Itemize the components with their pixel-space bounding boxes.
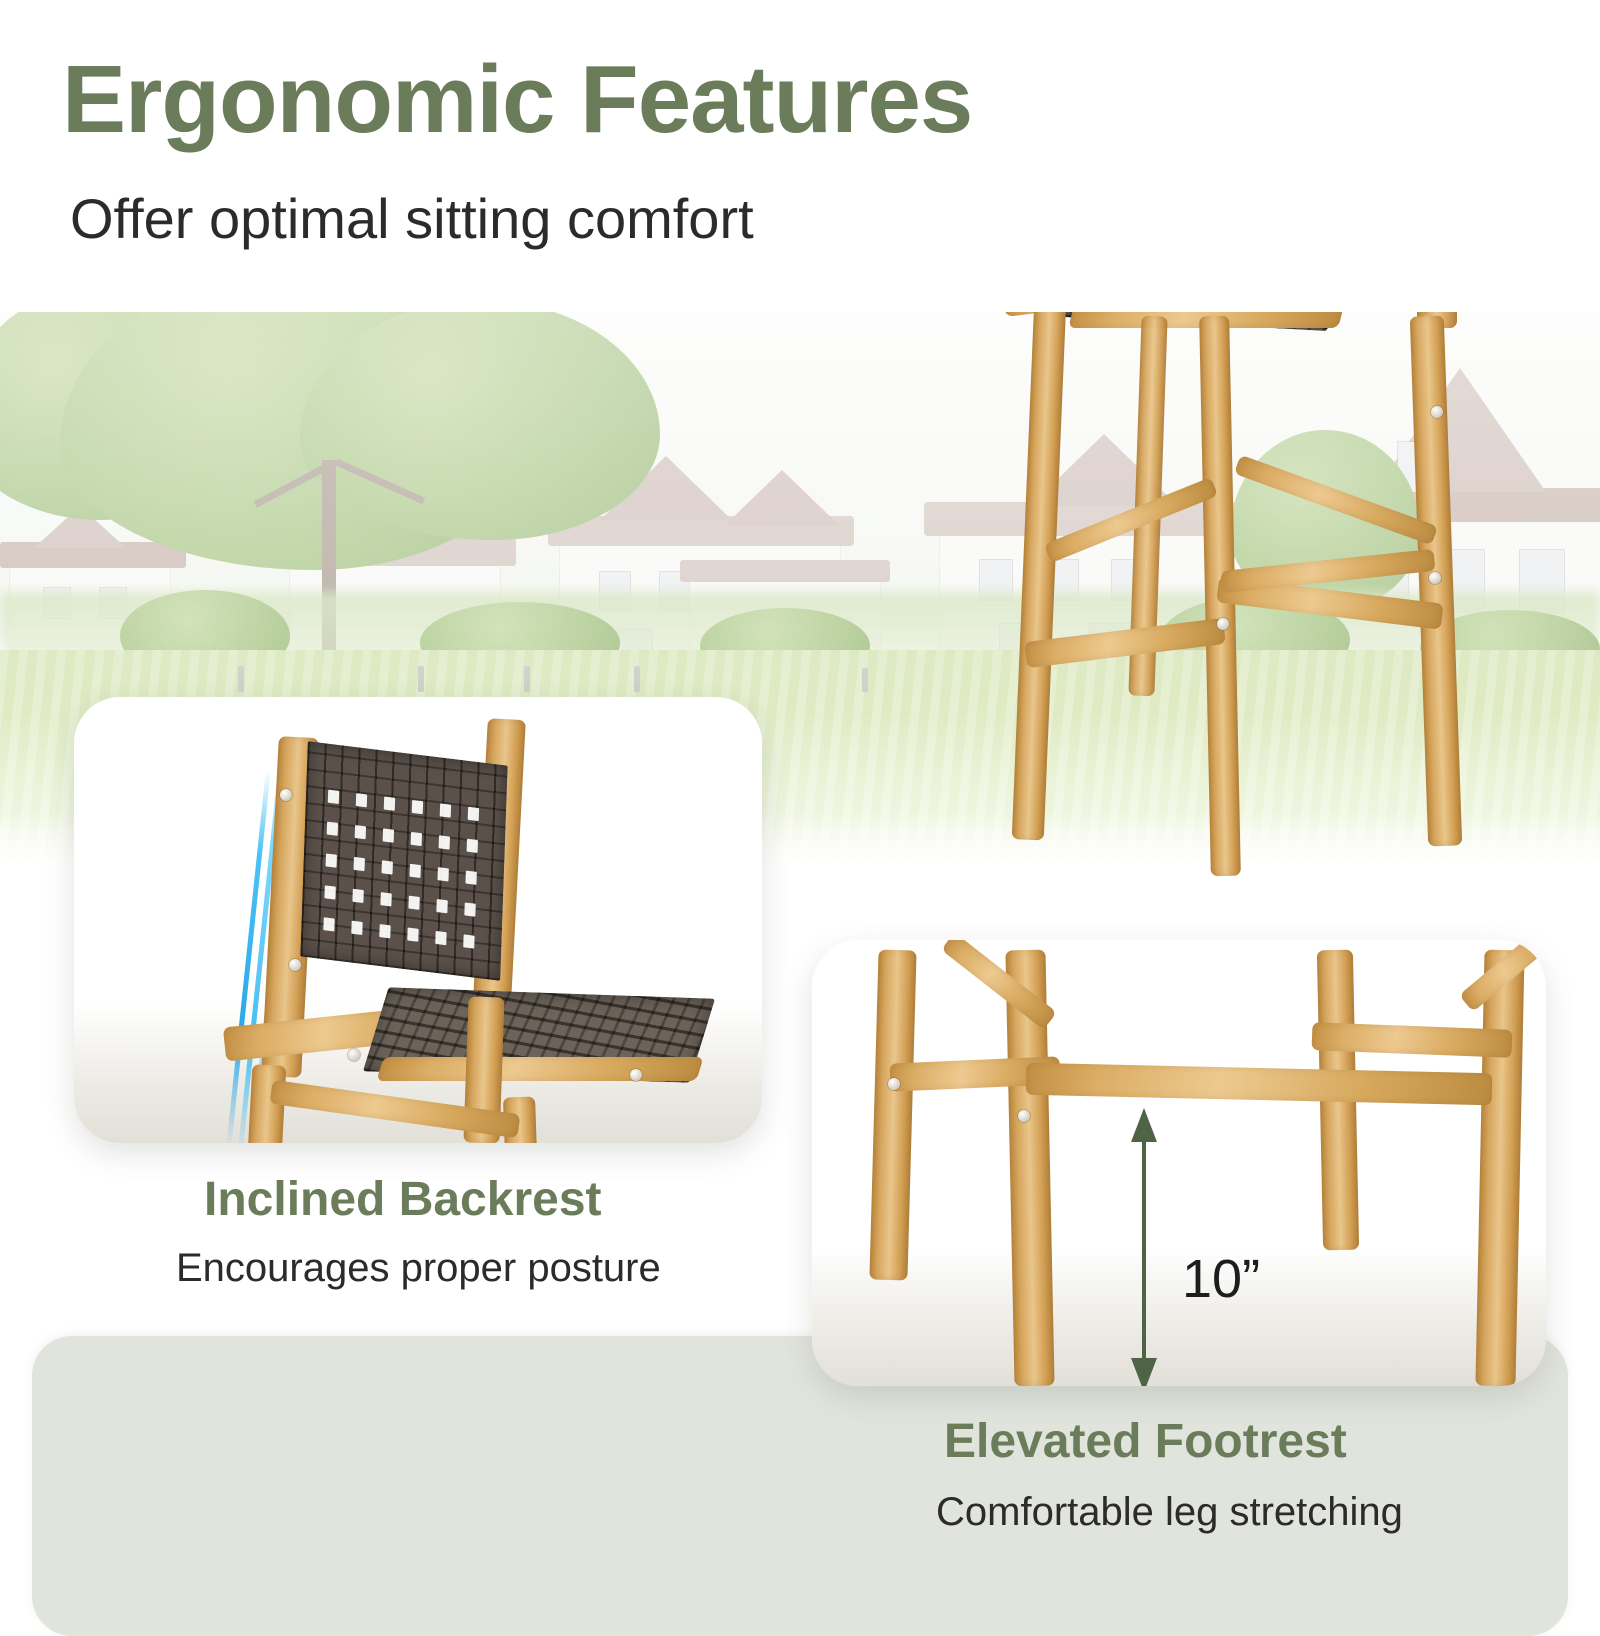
arrow-head-up-icon [1131,1108,1157,1142]
footrest-rail-left [1024,618,1226,668]
feature-subtitle-inclined-backrest: Encourages proper posture [176,1246,661,1291]
footrest-rail-cross-2 [1234,455,1438,546]
screw [348,1049,360,1061]
chair-closeup-inclined [74,697,762,1143]
footrest-height-dimension: 10” [1122,1108,1282,1386]
feature-card-inclined-backrest [74,697,762,1143]
screw [1018,1110,1030,1122]
feature-title-elevated-footrest: Elevated Footrest [944,1414,1347,1469]
feature-card-elevated-footrest: 10” [812,940,1546,1386]
arrow-head-down-icon [1131,1358,1157,1386]
header: Ergonomic Features Offer optimal sitting… [0,0,1600,312]
feature-subtitle-elevated-footrest: Comfortable leg stretching [936,1490,1403,1535]
footrest-rail-upper [1220,549,1435,593]
leg-back-left [869,950,916,1281]
screw [280,789,292,801]
card-inner [74,697,762,1143]
footrest-rail-cross [1044,477,1218,563]
backrest-webbing [300,741,507,981]
card-inner: 10” [812,940,1546,1386]
seat-front-rail [376,1057,703,1081]
marketing-infographic: 10” Ergonomic Features Offer optimal sit… [0,0,1600,1600]
webbing-holes [300,741,507,981]
footrest-rail-main [1026,1063,1493,1106]
dimension-label: 10” [1182,1248,1260,1310]
screw [289,959,301,971]
leg-front-left [1012,300,1067,841]
screw [1431,406,1443,418]
leg-front-right [1475,950,1524,1386]
screw [888,1078,900,1090]
screw [1429,572,1441,584]
screw [1217,618,1229,630]
feature-title-inclined-backrest: Inclined Backrest [204,1172,602,1227]
screw [630,1069,642,1081]
page-subtitle: Offer optimal sitting comfort [70,186,754,251]
arrow-shaft [1142,1138,1146,1360]
page-title: Ergonomic Features [62,50,972,151]
